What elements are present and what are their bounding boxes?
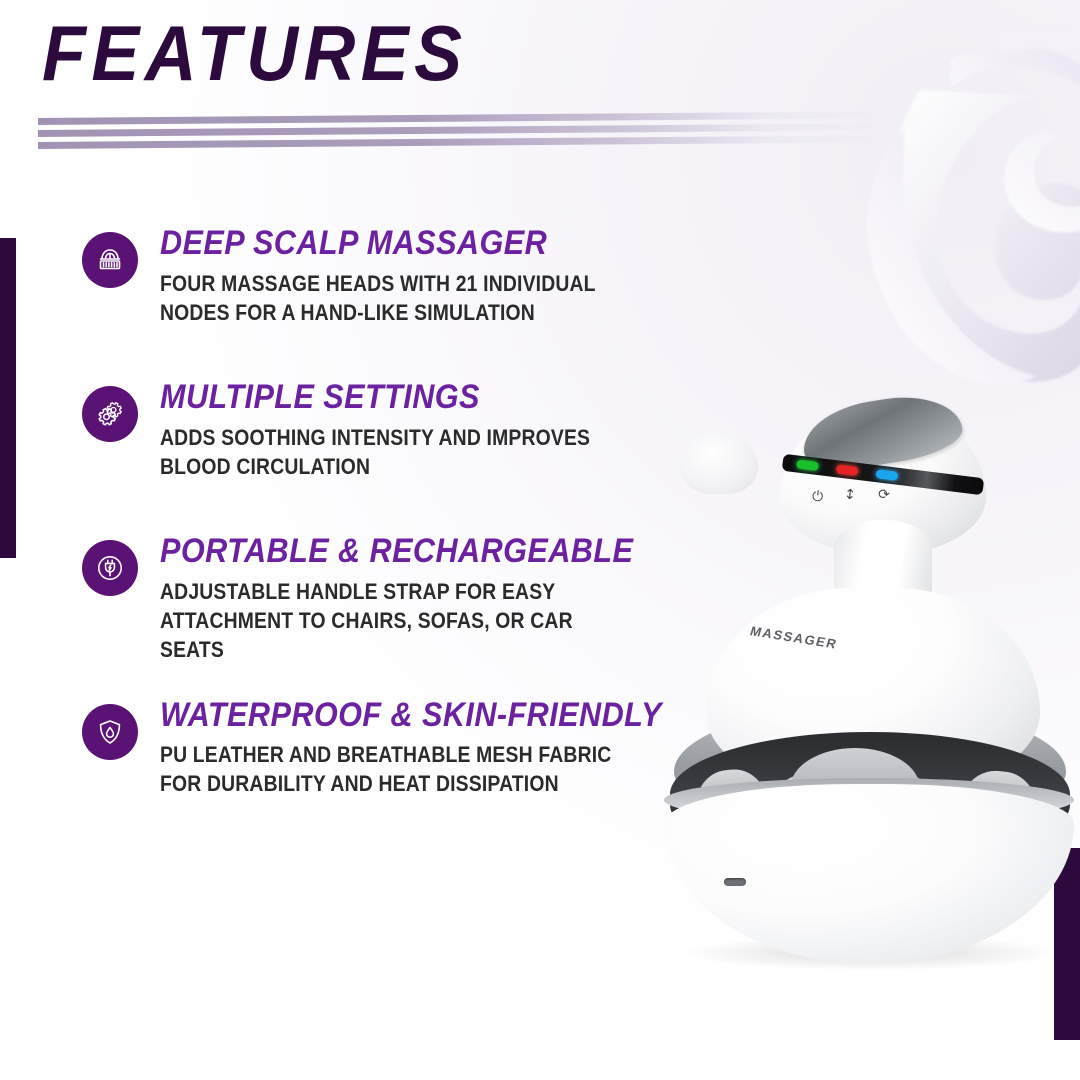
feature-item-waterproof-skin-friendly: WATERPROOF & SKIN-FRIENDLY PU LEATHER AN… <box>78 698 698 818</box>
title-underline-rules <box>38 118 1078 154</box>
red-indicator-led <box>836 464 859 476</box>
feature-icon-badge <box>82 540 138 596</box>
feature-title: MULTIPLE SETTINGS <box>160 380 644 415</box>
scalp-massager-icon <box>94 244 126 276</box>
feature-list: DEEP SCALP MASSAGER FOUR MASSAGE HEADS W… <box>78 226 698 852</box>
product-image-scalp-massager: ⏻ ↕ ⟳ MASSAGER <box>620 380 1060 980</box>
intensity-button-icon[interactable]: ↕ <box>843 487 856 502</box>
feature-icon-badge <box>82 232 138 288</box>
feature-description: FOUR MASSAGE HEADS WITH 21 INDIVIDUAL NO… <box>160 269 633 327</box>
massager-base <box>664 784 1074 964</box>
feature-text: DEEP SCALP MASSAGER FOUR MASSAGE HEADS W… <box>160 226 698 327</box>
power-button-icon[interactable]: ⏻ <box>811 489 823 504</box>
feature-description: PU LEATHER AND BREATHABLE MESH FABRIC FO… <box>160 740 633 798</box>
left-accent-bar <box>0 238 16 558</box>
mode-cycle-button-icon[interactable]: ⟳ <box>877 487 890 502</box>
gears-icon <box>94 398 126 430</box>
page-title: FEATURES <box>42 14 962 92</box>
blue-indicator-led <box>876 469 899 481</box>
usb-charging-port <box>724 878 746 886</box>
feature-item-multiple-settings: MULTIPLE SETTINGS ADDS SOOTHING INTENSIT… <box>78 380 698 500</box>
title-rule-3 <box>38 134 1048 149</box>
feature-title: WATERPROOF & SKIN-FRIENDLY <box>160 698 644 733</box>
feature-text: PORTABLE & RECHARGEABLE ADJUSTABLE HANDL… <box>160 534 698 664</box>
feature-title: PORTABLE & RECHARGEABLE <box>160 534 644 569</box>
shield-droplet-icon <box>94 716 126 748</box>
feature-icon-badge <box>82 386 138 442</box>
feature-description: ADJUSTABLE HANDLE STRAP FOR EASY ATTACHM… <box>160 577 633 664</box>
feature-text: MULTIPLE SETTINGS ADDS SOOTHING INTENSIT… <box>160 380 698 481</box>
feature-description: ADDS SOOTHING INTENSITY AND IMPROVES BLO… <box>160 423 633 481</box>
accessory-strap <box>680 432 758 494</box>
feature-title: DEEP SCALP MASSAGER <box>160 226 644 261</box>
feature-text: WATERPROOF & SKIN-FRIENDLY PU LEATHER AN… <box>160 698 698 799</box>
feature-item-deep-scalp-massager: DEEP SCALP MASSAGER FOUR MASSAGE HEADS W… <box>78 226 698 346</box>
feature-icon-badge <box>82 704 138 760</box>
power-plug-icon <box>94 552 126 584</box>
green-indicator-led <box>796 459 819 471</box>
feature-item-portable-rechargeable: PORTABLE & RECHARGEABLE ADJUSTABLE HANDL… <box>78 534 698 664</box>
header: FEATURES <box>42 14 1042 144</box>
